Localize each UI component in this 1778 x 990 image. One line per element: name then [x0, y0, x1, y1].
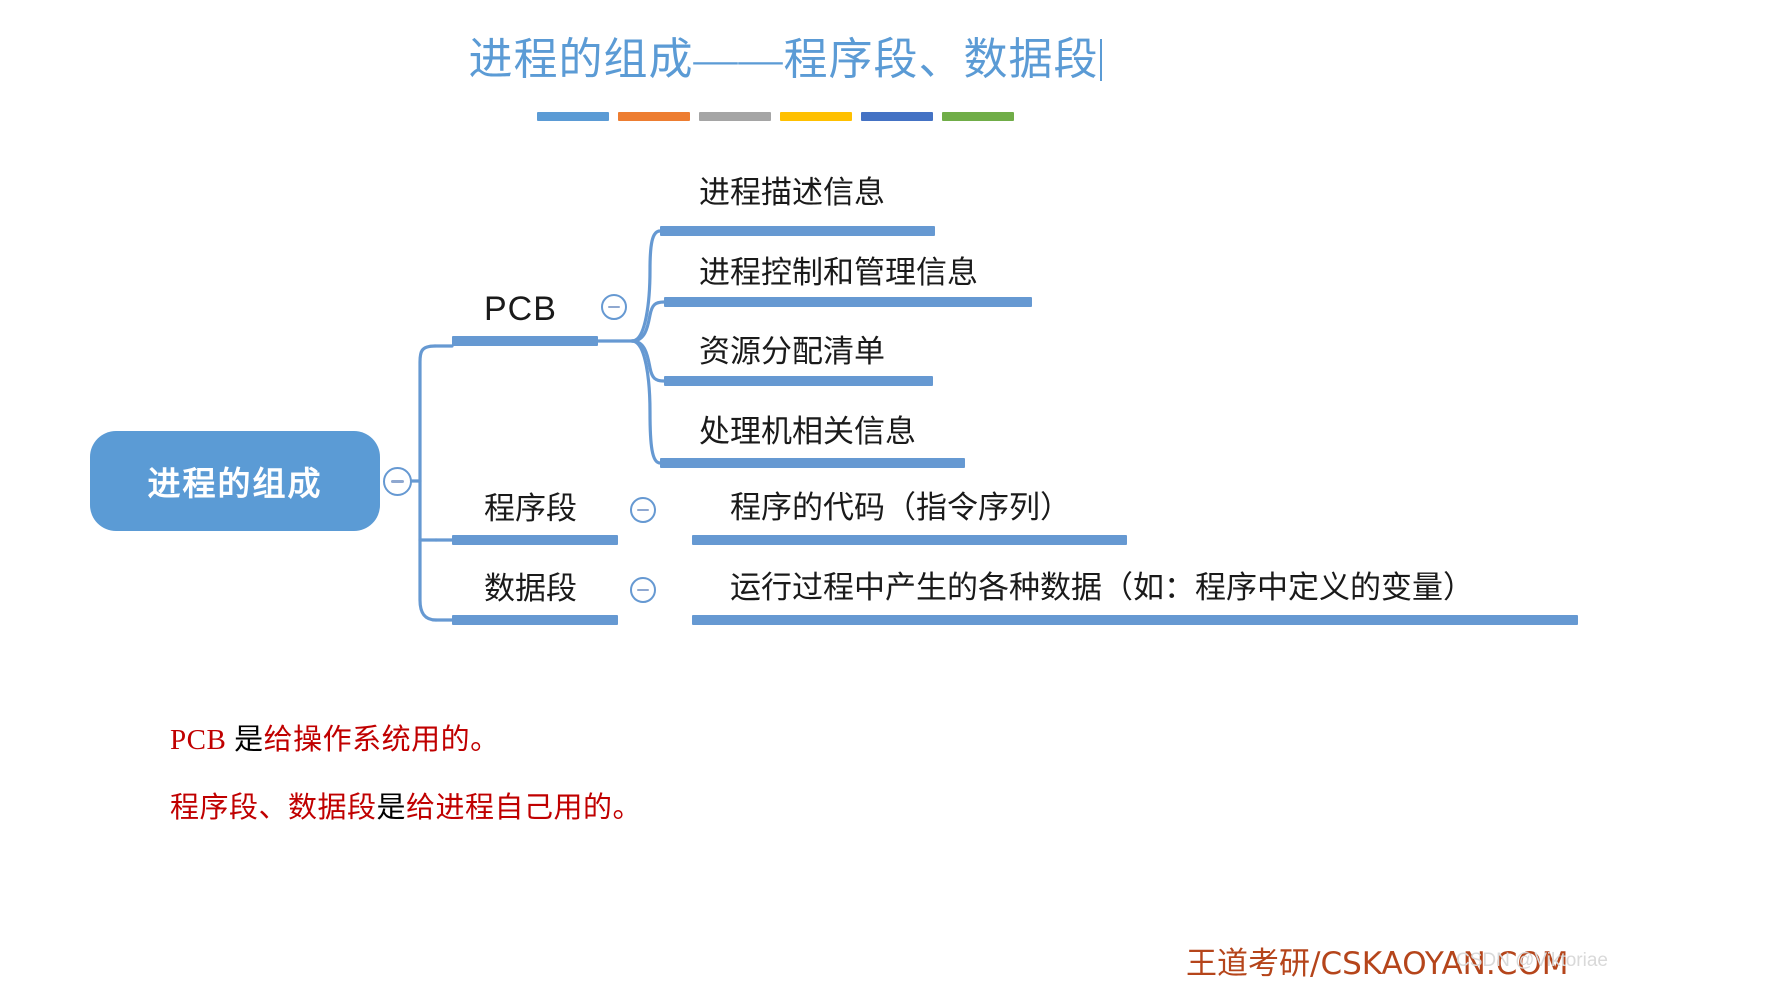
connector-pcb-child-1	[632, 231, 660, 341]
root-node[interactable]: 进程的组成	[90, 431, 380, 531]
leaf-label-runtime-data[interactable]: 运行过程中产生的各种数据（如：程序中定义的变量）	[730, 573, 1474, 604]
pcb-collapse-toggle-icon[interactable]	[601, 294, 627, 320]
leaf-label-process-control[interactable]: 进程控制和管理信息	[699, 258, 978, 289]
root-node-label: 进程的组成	[148, 457, 323, 505]
leaf-label-process-description[interactable]: 进程描述信息	[699, 178, 885, 209]
leaf-label-program-code[interactable]: 程序的代码（指令序列）	[730, 493, 1071, 524]
connector-spine	[420, 346, 436, 620]
note-line-2: 程序段、数据段是给进程自己用的。	[170, 784, 642, 826]
mindmap: 进程的组成 PCB 进程描述信息 进程控制和管理信息 资源分配清单 处理机相关信…	[0, 0, 1778, 700]
root-collapse-toggle-icon[interactable]	[383, 467, 412, 496]
note-2-part-b: 是	[377, 792, 407, 824]
note-1-part-b: 是	[234, 724, 264, 756]
branch-underline-pcb	[452, 336, 598, 346]
branch-label-pcb[interactable]: PCB	[484, 292, 557, 326]
branch-label-program-section[interactable]: 程序段	[484, 494, 577, 525]
leaf-underline-cpu-info	[660, 458, 965, 468]
leaf-underline-resource-list	[664, 376, 933, 386]
watermark-csdn: CSDN @Viktoriae	[1456, 950, 1608, 972]
data-section-collapse-toggle-icon[interactable]	[630, 577, 656, 603]
note-1-part-c: 给操作系统用的。	[264, 724, 500, 756]
branch-underline-program-section	[452, 535, 618, 545]
leaf-underline-program-code	[692, 535, 1127, 545]
note-2-part-a: 程序段、数据段	[170, 792, 377, 824]
leaf-label-cpu-info[interactable]: 处理机相关信息	[699, 417, 916, 448]
slide-canvas: 进程的组成——程序段、数据段	[0, 0, 1778, 990]
leaf-underline-process-control	[664, 297, 1032, 307]
branch-underline-data-section	[452, 615, 618, 625]
leaf-underline-runtime-data	[692, 615, 1578, 625]
note-line-1: PCB 是给操作系统用的。	[170, 716, 500, 758]
branch-label-data-section[interactable]: 数据段	[484, 574, 577, 605]
note-1-part-a: PCB	[170, 724, 234, 756]
leaf-underline-process-description	[660, 226, 935, 236]
connector-pcb-child-4	[632, 341, 660, 463]
leaf-label-resource-list[interactable]: 资源分配清单	[699, 337, 885, 368]
note-2-part-c: 给进程自己用的。	[406, 792, 642, 824]
program-section-collapse-toggle-icon[interactable]	[630, 497, 656, 523]
